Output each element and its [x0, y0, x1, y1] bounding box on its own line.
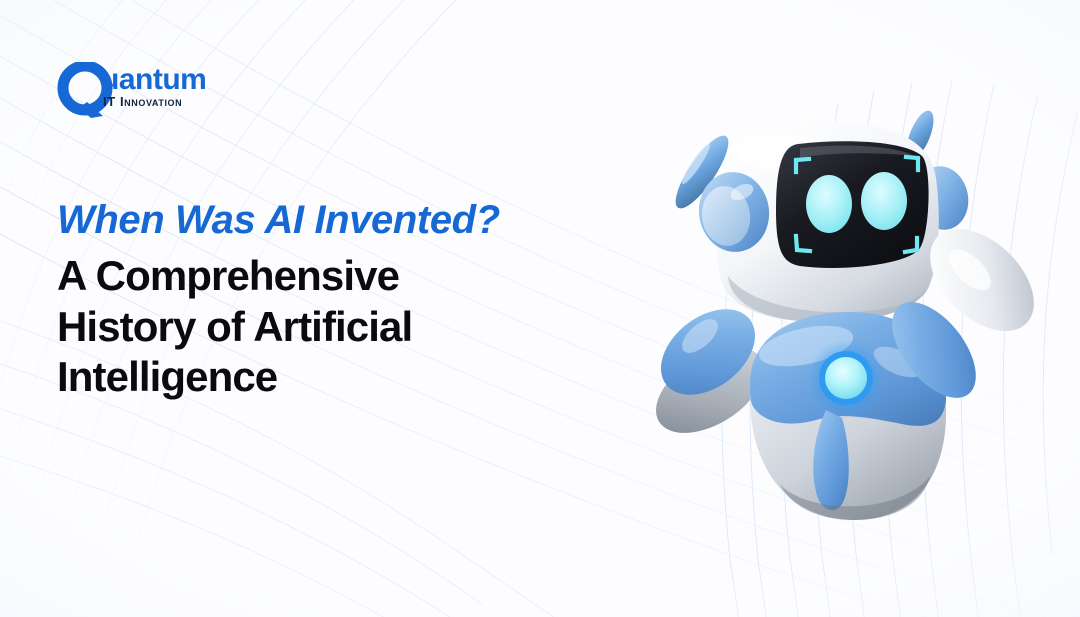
logo-tagline: IT Innovation [103, 95, 182, 108]
hero-copy: When Was AI Invented? A Comprehensive Hi… [57, 198, 657, 403]
eye-right [861, 172, 907, 230]
face-screen [776, 141, 929, 268]
chest-light [808, 340, 884, 416]
headline-eyebrow: When Was AI Invented? [57, 198, 657, 243]
robot-illustration [630, 100, 1050, 520]
logo-wordmark: uantum [101, 65, 206, 95]
eye-left [806, 175, 852, 233]
page-title-line-3: Intelligence [57, 352, 527, 403]
brand-logo[interactable]: uantum IT Innovation [57, 62, 272, 124]
page-title-line-2: History of Artificial [57, 302, 527, 353]
page-title: A Comprehensive History of Artificial In… [57, 251, 527, 403]
banner-hero: uantum IT Innovation When Was AI Invente… [0, 0, 1080, 617]
page-title-line-1: A Comprehensive [57, 251, 527, 302]
